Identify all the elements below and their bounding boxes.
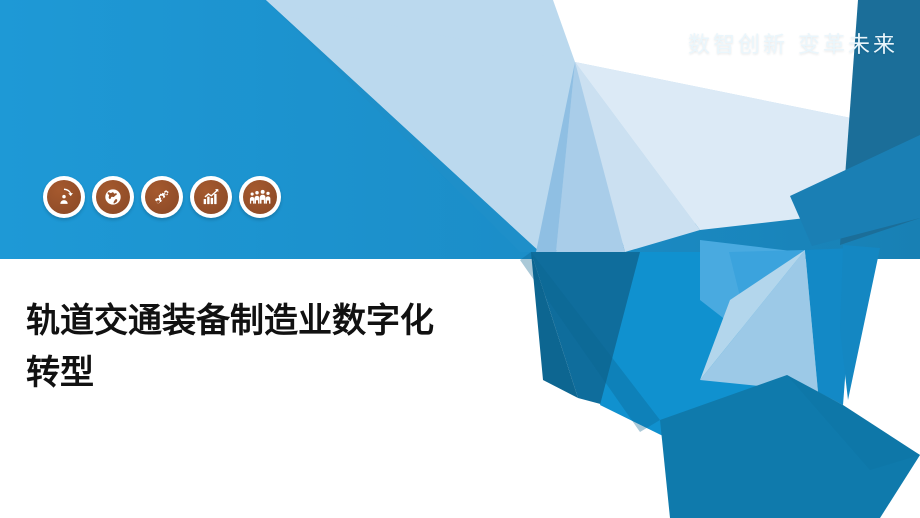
icon-badge-recycle-person[interactable]: [43, 176, 85, 218]
gears-icon: [145, 180, 179, 214]
icon-badge-globe[interactable]: [92, 176, 134, 218]
bar-chart-icon: [194, 180, 228, 214]
icon-badge-gears[interactable]: [141, 176, 183, 218]
presentation-slide: 数智创新 变革未来: [0, 0, 920, 518]
feature-icon-row: [43, 176, 281, 218]
recycle-person-icon: [47, 180, 81, 214]
globe-icon: [96, 180, 130, 214]
page-title-line-2: 转型: [26, 347, 546, 399]
icon-badge-team-people[interactable]: [239, 176, 281, 218]
team-people-icon: [243, 180, 277, 214]
slide-tagline: 数智创新 变革未来: [688, 27, 898, 59]
page-title-line-1: 轨道交通装备制造业数字化: [26, 295, 546, 347]
background-geometric-artwork: [0, 0, 920, 518]
slide-title: 轨道交通装备制造业数字化 转型: [26, 295, 546, 399]
icon-badge-bar-chart[interactable]: [190, 176, 232, 218]
